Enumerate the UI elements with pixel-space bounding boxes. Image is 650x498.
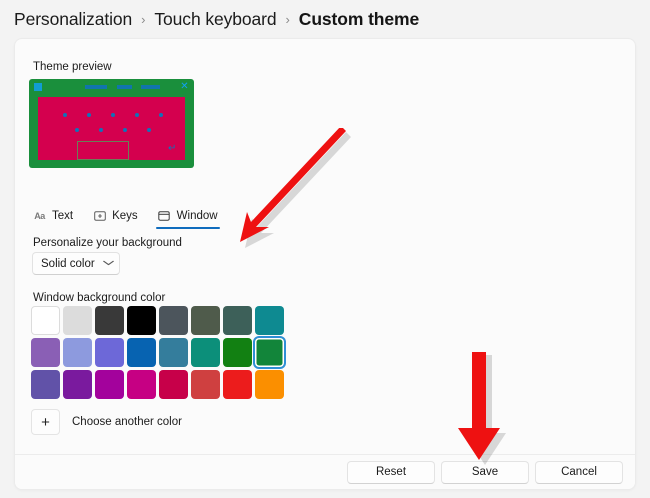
- preview-grip-icon: [34, 83, 42, 91]
- text-aa-icon: Aa: [33, 209, 46, 222]
- window-icon: [158, 209, 171, 222]
- preview-toolbar-pill: [117, 85, 132, 89]
- background-type-dropdown[interactable]: Solid color: [32, 252, 120, 275]
- color-swatch[interactable]: [223, 306, 252, 335]
- color-swatch[interactable]: [255, 306, 284, 335]
- color-swatch[interactable]: [159, 338, 188, 367]
- color-swatch[interactable]: [159, 306, 188, 335]
- window-background-color-label: Window background color: [33, 292, 165, 304]
- preview-toolbar-pill: [85, 85, 107, 89]
- color-swatch[interactable]: [95, 306, 124, 335]
- tab-keys-label: Keys: [112, 210, 138, 222]
- color-swatch[interactable]: [223, 338, 252, 367]
- color-swatch[interactable]: [127, 306, 156, 335]
- preview-key-dot: [63, 113, 67, 117]
- theme-preview-image: ✕ ↵: [29, 79, 194, 168]
- preview-close-icon: ✕: [180, 82, 189, 91]
- breadcrumb-item-touch-keyboard[interactable]: Touch keyboard: [154, 9, 276, 30]
- breadcrumb-item-personalization[interactable]: Personalization: [14, 9, 132, 30]
- preview-key-dot: [147, 128, 151, 132]
- save-button[interactable]: Save: [441, 461, 529, 484]
- tab-window-label: Window: [177, 210, 218, 222]
- preview-key-dot: [87, 113, 91, 117]
- card-footer: Reset Save Cancel: [15, 454, 635, 489]
- color-swatch[interactable]: [95, 370, 124, 399]
- cancel-button[interactable]: Cancel: [535, 461, 623, 484]
- color-swatch[interactable]: [191, 370, 220, 399]
- color-swatch[interactable]: [31, 338, 60, 367]
- color-swatch[interactable]: [223, 370, 252, 399]
- preview-key-dot: [111, 113, 115, 117]
- color-swatch[interactable]: [63, 306, 92, 335]
- theme-preview-label: Theme preview: [33, 61, 112, 73]
- color-swatch[interactable]: [127, 370, 156, 399]
- color-swatch[interactable]: [63, 370, 92, 399]
- preview-window-frame: ✕ ↵: [29, 79, 194, 168]
- color-swatch[interactable]: [191, 306, 220, 335]
- personalize-background-label: Personalize your background: [33, 237, 182, 249]
- preview-key-dot: [123, 128, 127, 132]
- custom-theme-card: Theme preview ✕: [14, 38, 636, 490]
- color-swatch[interactable]: [255, 370, 284, 399]
- color-swatch-grid: [31, 306, 284, 399]
- tab-keys[interactable]: Keys: [83, 205, 148, 229]
- breadcrumb-separator-icon: ›: [286, 12, 290, 27]
- color-swatch[interactable]: [255, 338, 284, 367]
- color-swatch[interactable]: [31, 306, 60, 335]
- preview-key-dot: [75, 128, 79, 132]
- tab-text[interactable]: Aa Text: [23, 205, 83, 229]
- preview-toolbar-pill: [141, 85, 160, 89]
- preview-titlebar: ✕: [29, 79, 194, 95]
- breadcrumb: Personalization › Touch keyboard › Custo…: [14, 2, 419, 36]
- chevron-down-icon: [102, 259, 114, 268]
- color-swatch[interactable]: [95, 338, 124, 367]
- background-type-value: Solid color: [41, 258, 95, 270]
- breadcrumb-separator-icon: ›: [141, 12, 145, 27]
- preview-key-dot: [99, 128, 103, 132]
- card-body: Theme preview ✕: [15, 39, 635, 456]
- reset-button[interactable]: Reset: [347, 461, 435, 484]
- tab-window[interactable]: Window: [148, 205, 228, 229]
- theme-tab-bar: Aa Text Keys: [23, 199, 228, 229]
- color-swatch[interactable]: [191, 338, 220, 367]
- choose-another-color-button[interactable]: +: [31, 409, 60, 435]
- preview-enter-icon: ↵: [168, 145, 178, 153]
- keys-icon: [93, 209, 106, 222]
- tab-text-label: Text: [52, 210, 73, 222]
- preview-spacebar-key: [77, 141, 129, 160]
- color-swatch[interactable]: [159, 370, 188, 399]
- color-swatch[interactable]: [63, 338, 92, 367]
- color-swatch[interactable]: [127, 338, 156, 367]
- breadcrumb-item-custom-theme: Custom theme: [299, 9, 419, 30]
- color-swatch[interactable]: [31, 370, 60, 399]
- preview-key-dot: [159, 113, 163, 117]
- choose-another-color-label: Choose another color: [72, 416, 182, 428]
- choose-another-color-row: + Choose another color: [31, 409, 182, 435]
- preview-keys-area: ↵: [38, 97, 185, 160]
- preview-key-dot: [135, 113, 139, 117]
